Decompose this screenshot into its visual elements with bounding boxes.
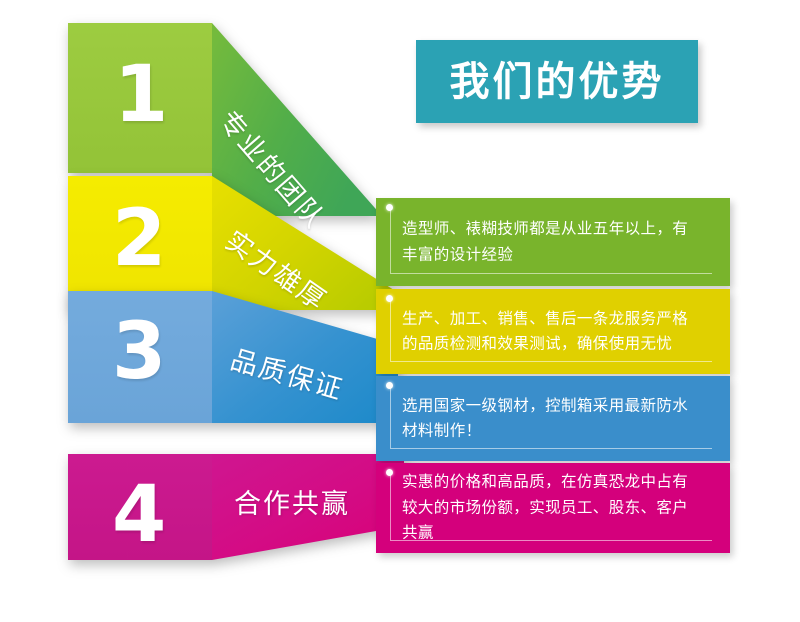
panel-4-text: 实惠的价格和高品质，在仿真恐龙中占有较大的市场份额，实现员工、股东、客户共赢 (402, 470, 704, 547)
panel-2-text: 生产、加工、销售、售后一条龙服务严格的品质检测和效果测试，确保使用无忧 (402, 306, 704, 357)
panel-1-text: 造型师、裱糊技师都是从业五年以上，有丰富的设计经验 (402, 216, 704, 267)
content-panel-2[interactable]: 生产、加工、销售、售后一条龙服务严格的品质检测和效果测试，确保使用无忧 (376, 289, 730, 374)
page-title-banner: 我们的优势 (416, 40, 698, 123)
content-panel-1[interactable]: 造型师、裱糊技师都是从业五年以上，有丰富的设计经验 (376, 198, 730, 286)
step-1-number: 1 (114, 56, 168, 134)
page-title: 我们的优势 (450, 62, 665, 102)
step-4-number: 4 (112, 476, 166, 554)
content-panel-4[interactable]: 实惠的价格和高品质，在仿真恐龙中占有较大的市场份额，实现员工、股东、客户共赢 (376, 463, 730, 553)
step-block-4[interactable]: 4 合作共赢 (62, 398, 412, 588)
content-panel-3[interactable]: 选用国家一级钢材，控制箱采用最新防水材料制作！ (376, 376, 730, 461)
panel-3-text: 选用国家一级钢材，控制箱采用最新防水材料制作！ (402, 393, 704, 444)
step-2-number: 2 (112, 200, 166, 278)
step-4-ribbon-label: 合作共赢 (234, 482, 350, 521)
infographic-canvas: 我们的优势 (0, 0, 800, 622)
step-3-number: 3 (112, 313, 166, 391)
